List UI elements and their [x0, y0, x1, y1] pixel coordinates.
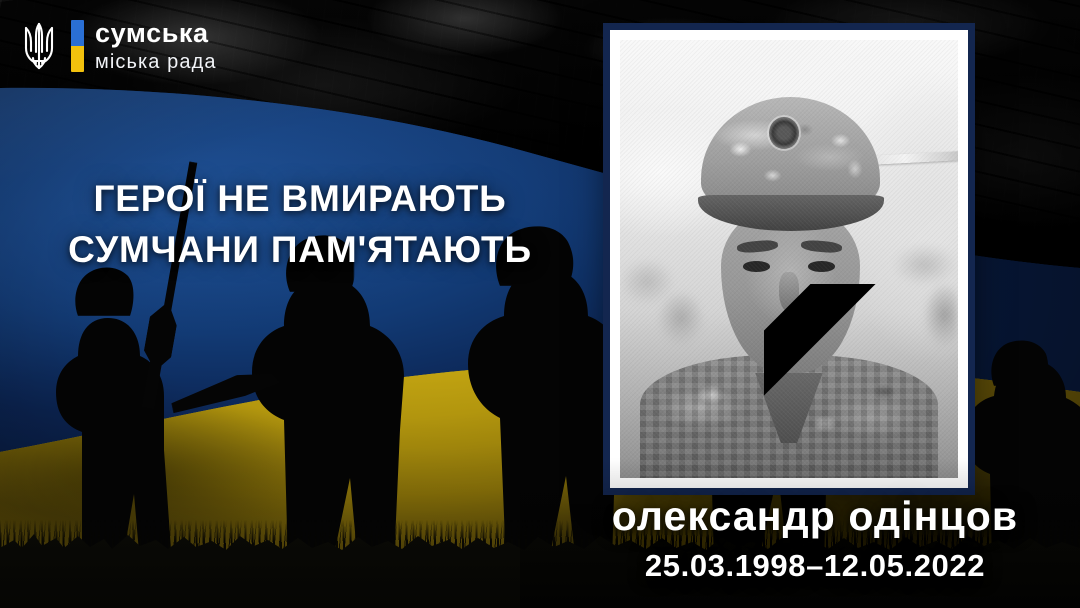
memorial-poster: сумська міська рада ГЕРОЇ НЕ ВМИРАЮТЬ СУ…: [0, 0, 1080, 608]
slogan-line-2: СУМЧАНИ ПАМ'ЯТАЮТЬ: [0, 229, 600, 270]
portrait-eye-right: [808, 261, 835, 272]
portrait-frame: [610, 30, 968, 488]
portrait-nose: [779, 272, 799, 311]
memorial-dates: 25.03.1998–12.05.2022: [560, 550, 1070, 581]
ukraine-trident-icon: [18, 18, 60, 74]
slogan-line-1: ГЕРОЇ НЕ ВМИРАЮТЬ: [0, 178, 600, 219]
memorial-caption: олександр одінцов 25.03.1998–12.05.2022: [560, 496, 1070, 581]
portrait-eye-left: [743, 261, 770, 272]
memorial-slogan: ГЕРОЇ НЕ ВМИРАЮТЬ СУМЧАНИ ПАМ'ЯТАЮТЬ: [0, 178, 600, 271]
memorial-name: олександр одінцов: [560, 496, 1070, 537]
logo-line-1: сумська: [95, 20, 217, 47]
ukraine-flag-bar-icon: [71, 20, 84, 72]
sumy-city-council-logo[interactable]: сумська міська рада: [18, 18, 217, 74]
portrait-mouth: [769, 323, 813, 331]
logo-wordmark: сумська міська рада: [95, 20, 217, 72]
portrait-cap-badge-icon: [769, 117, 799, 149]
soldier-portrait-photo: [620, 40, 958, 478]
logo-line-2: міська рада: [95, 52, 217, 72]
